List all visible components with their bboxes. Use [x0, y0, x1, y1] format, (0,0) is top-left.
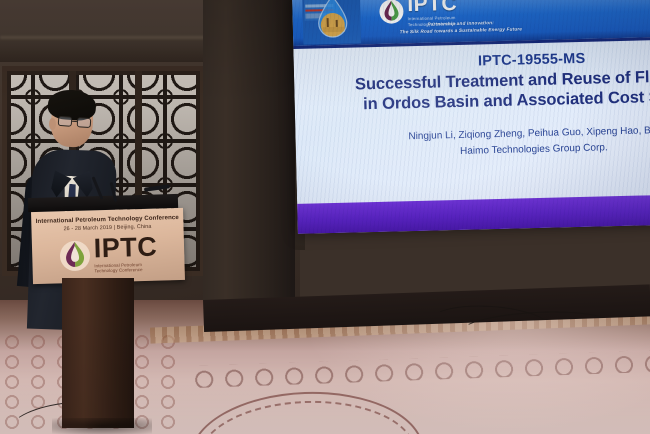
conference-photo-scene: IPTC International Petroleum Technology …: [0, 0, 650, 434]
slide-logo-word: IPTC: [407, 0, 457, 15]
projection-screen: IPTC International Petroleum Technology …: [292, 0, 650, 234]
lectern-logo-subtitle: International Petroleum Technology Confe…: [94, 261, 158, 274]
oil-droplet-montage-icon: [302, 0, 361, 45]
presentation-slide: IPTC International Petroleum Technology …: [292, 0, 650, 234]
slide-body: IPTC-19555-MS Successful Treatment and R…: [312, 47, 650, 163]
slide-footer-band: [297, 195, 650, 234]
lectern-column: [62, 278, 134, 428]
slide-header-band: IPTC International Petroleum Technology …: [292, 0, 650, 49]
iptc-mark-icon: [378, 0, 405, 25]
lectern-shadow: [52, 418, 152, 434]
iptc-mark-icon: [59, 240, 92, 273]
glasses-lens-left: [58, 116, 73, 127]
speaker-ear: [49, 118, 56, 130]
lectern-iptc-logo: IPTC International Petroleum Technology …: [58, 235, 158, 276]
lectern-logo-word: IPTC: [93, 235, 157, 262]
glasses-lens-right: [77, 117, 92, 128]
lectern-sign: International Petroleum Technology Confe…: [31, 208, 185, 284]
